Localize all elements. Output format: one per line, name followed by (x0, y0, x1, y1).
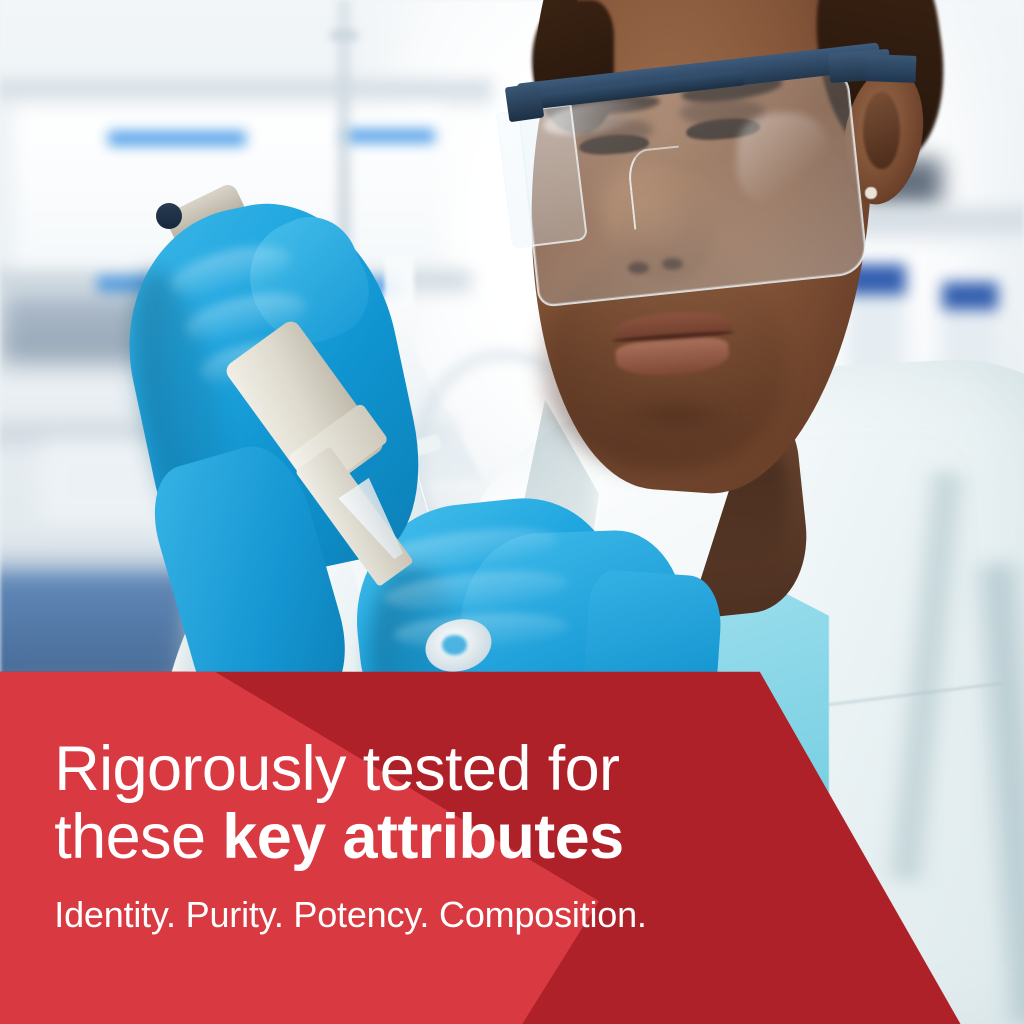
banner-image: Rigorously tested for these key attribut… (0, 0, 1024, 1024)
test-tube-base-reflection (442, 635, 467, 655)
safety-goggles-bridge (626, 146, 687, 230)
ear-inner (863, 92, 900, 169)
chin-shadow (614, 394, 737, 435)
goggles-glint-2 (737, 113, 829, 205)
safety-goggles-temple-arm (865, 54, 917, 82)
nitrile-glove-cuff (577, 569, 724, 783)
lab-technician (0, 0, 1024, 1024)
safety-goggles-end-cap (505, 83, 544, 122)
earring (865, 187, 876, 198)
